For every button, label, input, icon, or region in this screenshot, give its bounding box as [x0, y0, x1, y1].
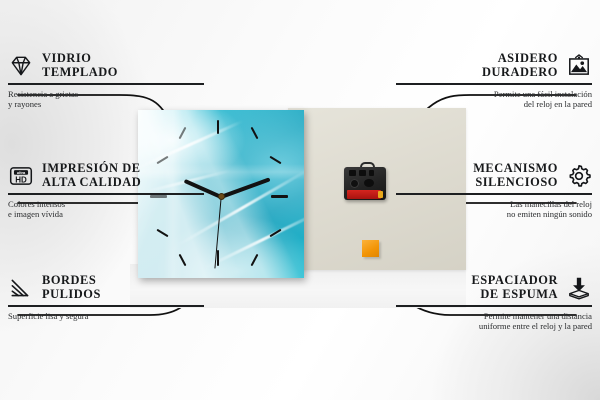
battery	[347, 190, 381, 199]
picture-frame-hanger-icon	[566, 53, 592, 79]
foam-spacer	[362, 240, 379, 257]
feature-title: ASIDERO DURADERO	[482, 52, 558, 79]
feature-asidero-duradero: ASIDERO DURADERO Permite una fácil insta…	[396, 52, 592, 109]
polished-edges-icon	[8, 275, 34, 301]
feature-vidrio-templado: VIDRIO TEMPLADO Resistencia a grietas y …	[8, 52, 204, 109]
feature-title: BORDES PULIDOS	[42, 274, 101, 301]
feature-title: IMPRESIÓN DE ALTA CALIDAD	[42, 162, 141, 189]
divider	[396, 83, 592, 85]
mechanism-knob	[350, 179, 359, 188]
feature-title: ESPACIADOR DE ESPUMA	[471, 274, 558, 301]
divider	[8, 193, 204, 195]
feature-espaciador-espuma: ESPACIADOR DE ESPUMA Permite mantener un…	[396, 274, 592, 331]
feature-desc: Permite una fácil instalación del reloj …	[396, 89, 592, 109]
gear-icon	[566, 163, 592, 189]
divider	[8, 83, 204, 85]
feature-mecanismo-silencioso: MECANISMO SILENCIOSO Las manecillas del …	[396, 162, 592, 219]
feature-impresion-alta-calidad: ultra HD IMPRESIÓN DE ALTA CALIDAD Color…	[8, 162, 204, 219]
infographic-canvas: VIDRIO TEMPLADO Resistencia a grietas y …	[0, 0, 600, 400]
feature-desc: Colores intensos e imagen vívida	[8, 199, 204, 219]
arrow-down-pad-icon	[566, 275, 592, 301]
feature-desc: Resistencia a grietas y rayones	[8, 89, 204, 109]
divider	[396, 193, 592, 195]
feature-desc: Superficie lisa y segura	[8, 311, 204, 321]
divider	[396, 305, 592, 307]
diamond-icon	[8, 53, 34, 79]
feature-desc: Las manecillas del reloj no emiten ningú…	[396, 199, 592, 219]
mechanism-body	[344, 167, 386, 200]
feature-desc: Permite mantener una distancia uniforme …	[396, 311, 592, 331]
feature-bordes-pulidos: BORDES PULIDOS Superficie lisa y segura	[8, 274, 204, 321]
clock-mechanism	[344, 162, 386, 200]
divider	[8, 305, 204, 307]
svg-text:HD: HD	[15, 175, 27, 184]
feature-title: MECANISMO SILENCIOSO	[473, 162, 558, 189]
feature-title: VIDRIO TEMPLADO	[42, 52, 118, 79]
ultra-hd-badge-icon: ultra HD	[8, 163, 34, 189]
clock-center-pin	[218, 193, 225, 200]
svg-text:ultra: ultra	[17, 170, 26, 175]
